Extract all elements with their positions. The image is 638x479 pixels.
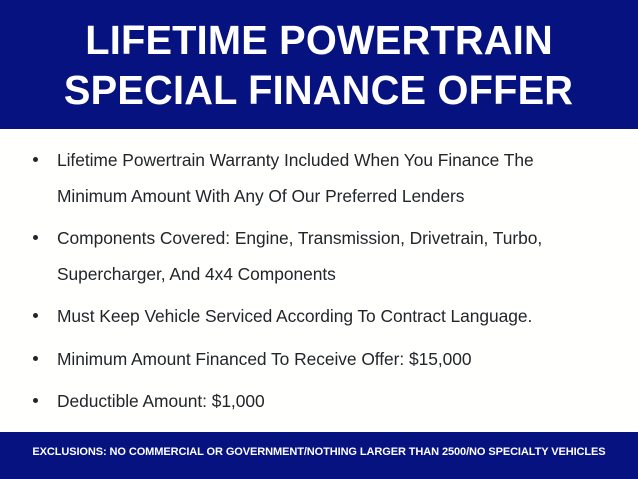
bullet-dot-icon (33, 313, 38, 318)
list-item: Lifetime Powertrain Warranty Included Wh… (14, 143, 624, 214)
page-title-line-2: SPECIAL FINANCE OFFER (64, 65, 573, 115)
list-item-line-2: Minimum Amount With Any Of Our Preferred… (57, 179, 624, 215)
list-item: Components Covered: Engine, Transmission… (14, 221, 624, 292)
list-item-line-2: Supercharger, And 4x4 Components (57, 257, 624, 293)
list-item: Deductible Amount: $1,000 (14, 384, 624, 420)
bullet-dot-icon (33, 356, 38, 361)
offer-bullet-list: Lifetime Powertrain Warranty Included Wh… (14, 143, 624, 462)
list-item-line-1: Components Covered: Engine, Transmission… (57, 221, 624, 257)
exclusions-text: EXCLUSIONS: NO COMMERCIAL OR GOVERNMENT/… (32, 432, 605, 459)
list-item: Minimum Amount Financed To Receive Offer… (14, 342, 624, 378)
list-item-line-1: Minimum Amount Financed To Receive Offer… (57, 342, 624, 378)
offer-details-body: Lifetime Powertrain Warranty Included Wh… (0, 129, 638, 432)
list-item: Must Keep Vehicle Serviced According To … (14, 299, 624, 335)
list-item-line-1: Deductible Amount: $1,000 (57, 384, 624, 420)
promotional-slide: LIFETIME POWERTRAIN SPECIAL FINANCE OFFE… (0, 0, 638, 479)
bullet-dot-icon (33, 235, 38, 240)
list-item-line-1: Must Keep Vehicle Serviced According To … (57, 299, 624, 335)
list-item-line-1: Lifetime Powertrain Warranty Included Wh… (57, 143, 624, 179)
bullet-dot-icon (33, 157, 38, 162)
page-title-line-1: LIFETIME POWERTRAIN (85, 15, 553, 65)
bullet-dot-icon (33, 398, 38, 403)
header-banner: LIFETIME POWERTRAIN SPECIAL FINANCE OFFE… (0, 0, 638, 129)
exclusions-banner: EXCLUSIONS: NO COMMERCIAL OR GOVERNMENT/… (0, 432, 638, 479)
